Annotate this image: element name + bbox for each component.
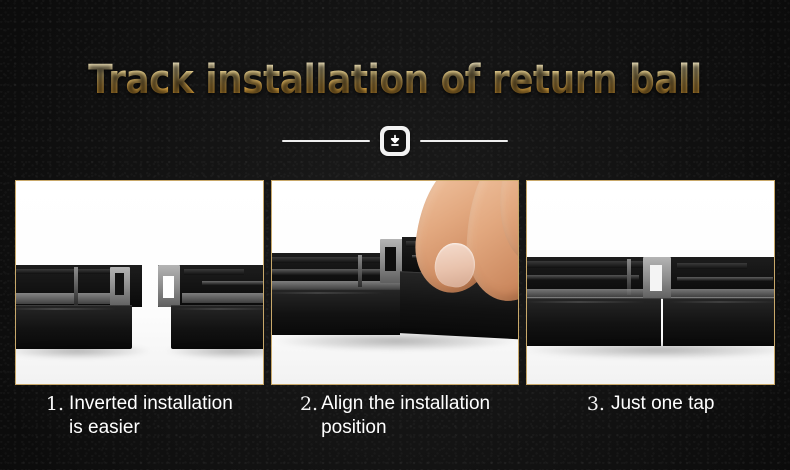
step-caption-1: 1. Inverted installation is easier [15,390,264,460]
step-text-3: Just one tap [611,392,715,416]
captions-row: 1. Inverted installation is easier 2. Al… [15,390,775,460]
panels-row [15,180,775,385]
photo-hand-aligning-rails [272,181,519,384]
step-caption-3: 3. Just one tap [526,390,775,460]
step-number-1: 1. [46,392,64,416]
step-number-3: 3. [587,392,605,416]
step-number-2: 2. [300,392,318,416]
promo-infographic-page: Track installation of return ball [0,0,790,470]
divider-line-left [282,140,370,142]
page-title: Track installation of return ball [88,57,702,103]
step-text-2: Align the installation position [321,392,490,440]
step-text-1: Inverted installation is easier [69,392,233,440]
title-container: Track installation of return ball [0,57,790,103]
divider [0,122,790,160]
step-caption-2: 2. Align the installation position [271,390,520,460]
divider-line-right [420,140,508,142]
step-photo-2 [271,180,520,385]
step-photo-1 [15,180,264,385]
download-arrow-icon [384,130,406,152]
divider-badge [380,126,410,156]
photo-rails-joined [527,181,774,384]
photo-two-rails-apart [16,181,263,384]
step-photo-3 [526,180,775,385]
